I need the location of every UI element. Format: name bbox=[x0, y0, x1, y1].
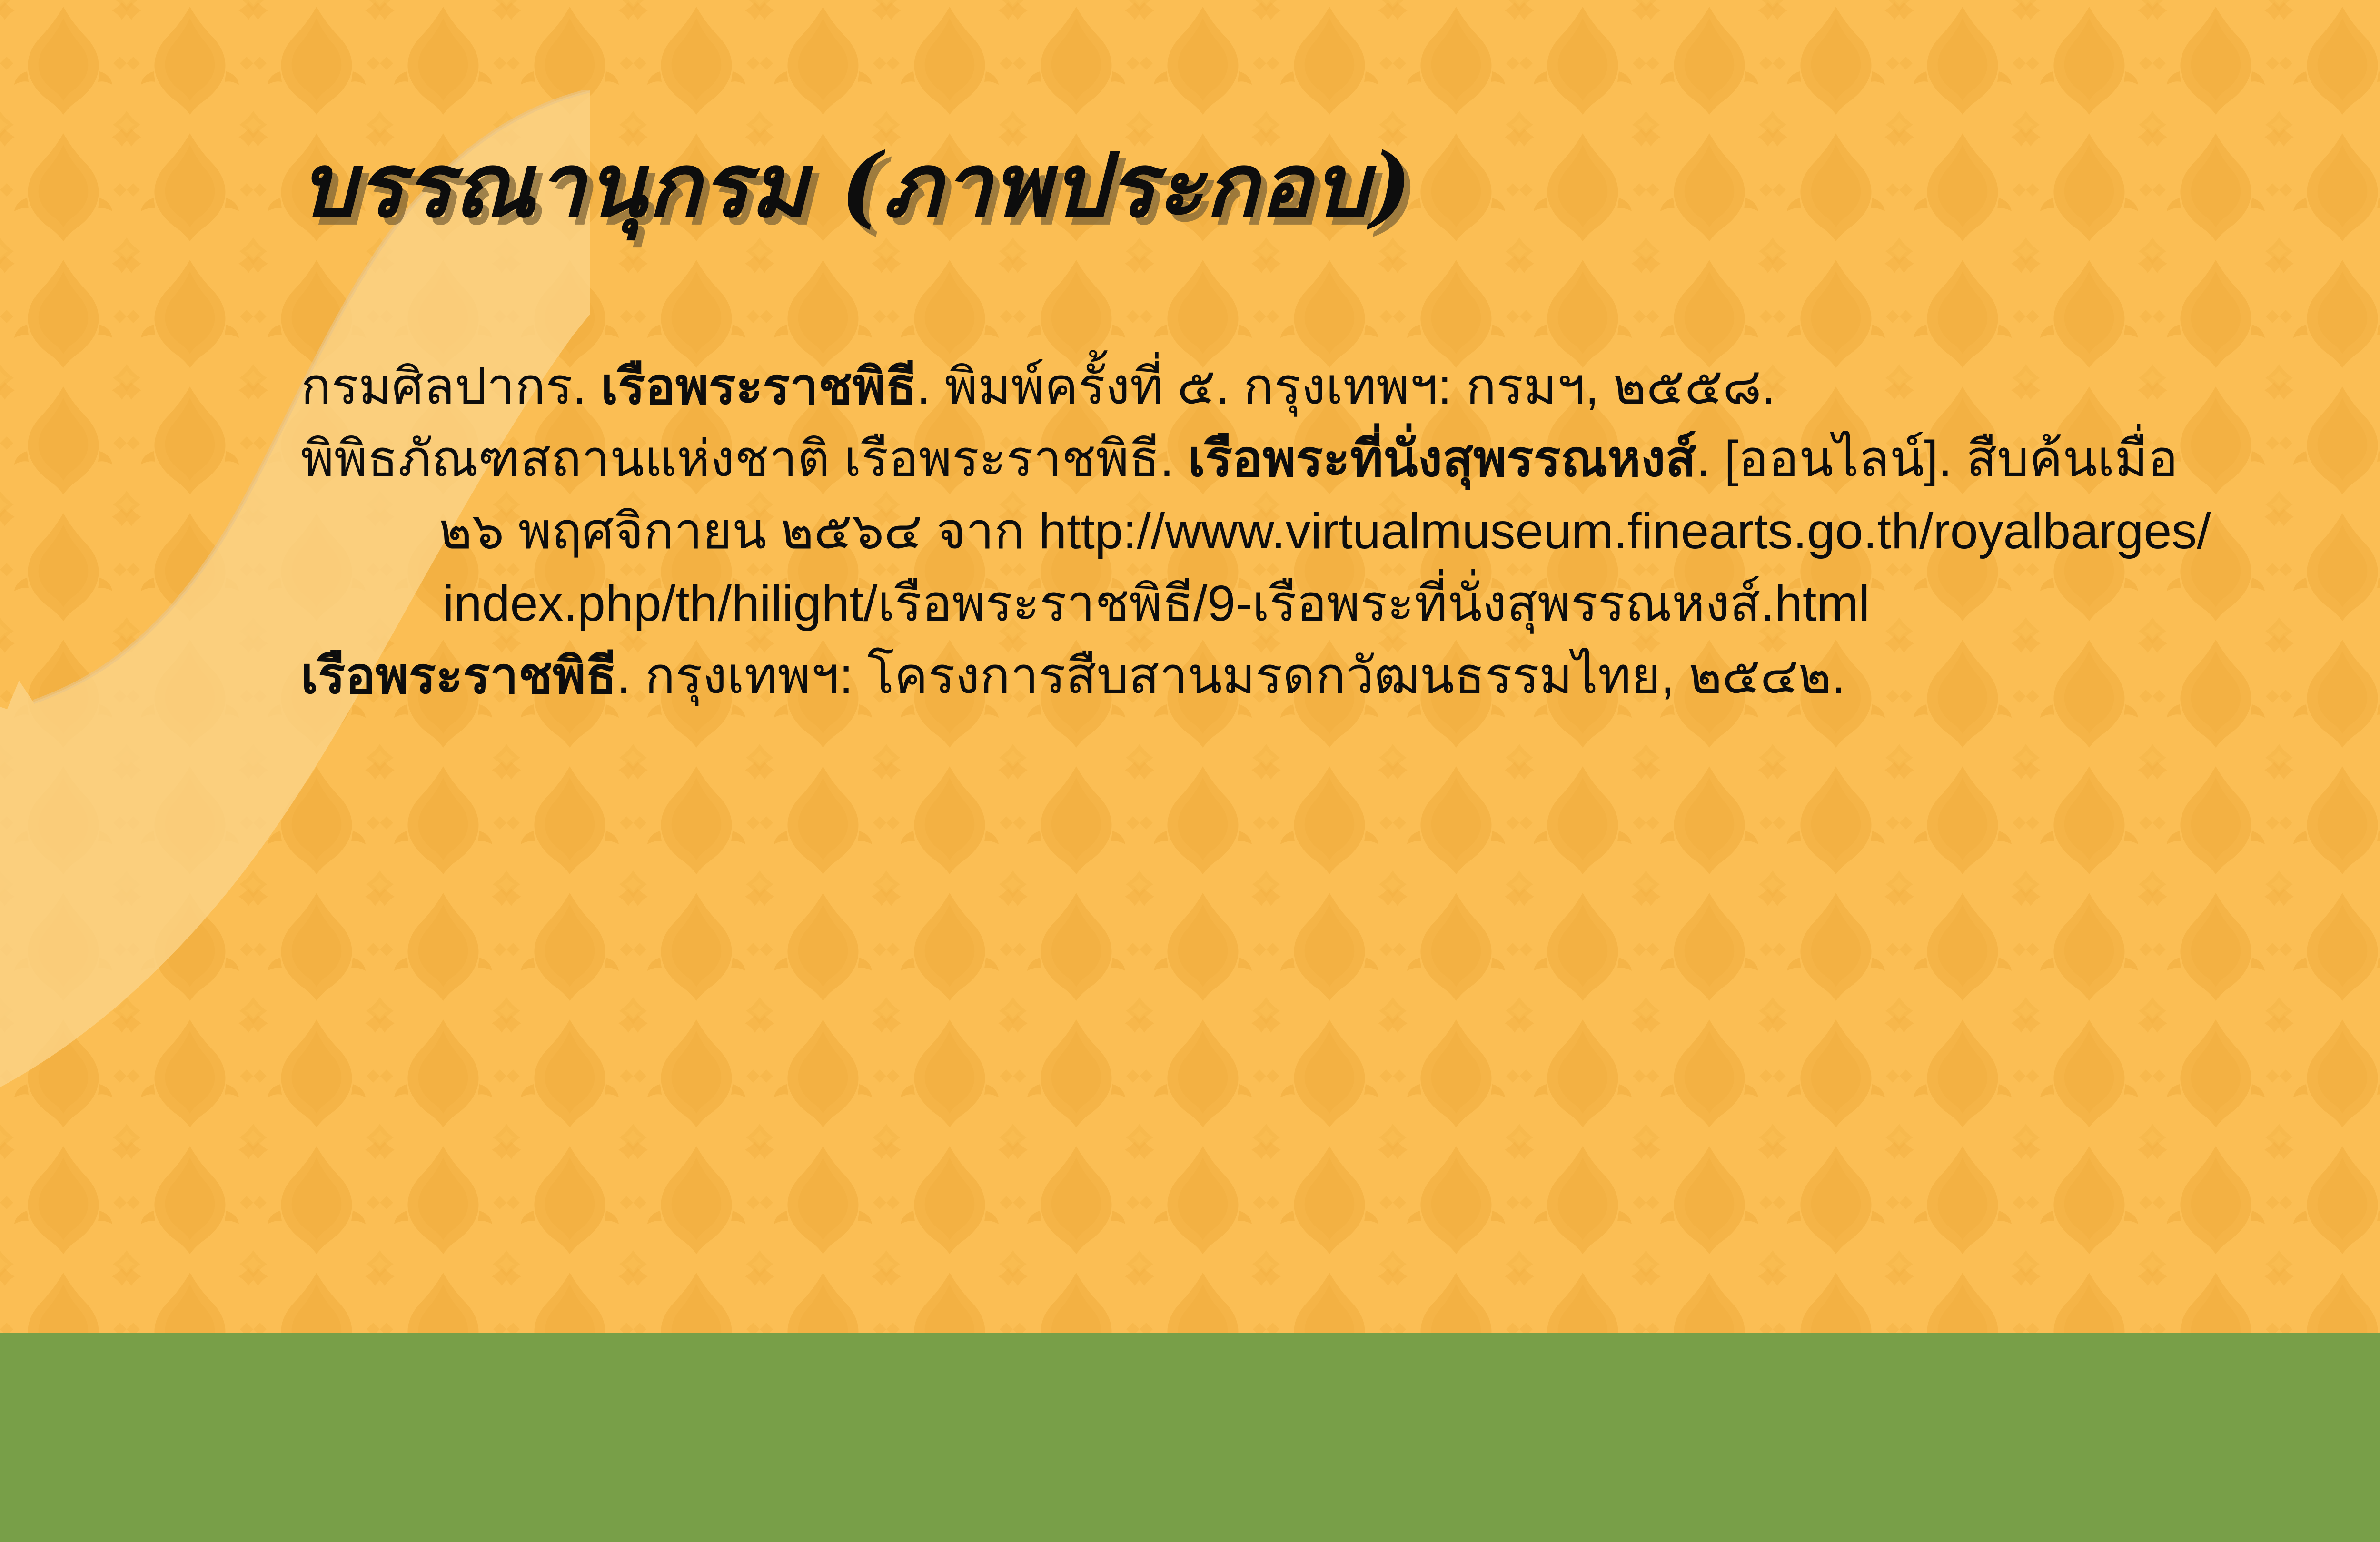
reference-title-text: เรือพระที่นั่งสุพรรณหงส์ bbox=[1188, 431, 1696, 487]
bibliography-entry: index.php/th/hilight/เรือพระราชพิธี/9-เร… bbox=[301, 567, 2380, 640]
bibliography-entry: กรมศิลปากร. เรือพระราชพิธี. พิมพ์ครั้งที… bbox=[301, 350, 2380, 423]
slide-canvas: บรรณานุกรม (ภาพประกอบ) กรมศิลปากร. เรือพ… bbox=[0, 0, 2380, 1542]
bibliography-entry: เรือพระราชพิธี. กรุงเทพฯ: โครงการสืบสานม… bbox=[301, 640, 2380, 712]
bibliography-list: กรมศิลปากร. เรือพระราชพิธี. พิมพ์ครั้งที… bbox=[301, 350, 2380, 712]
bibliography-entry: ๒๖ พฤศจิกายน ๒๕๖๔ จาก http://www.virtual… bbox=[301, 495, 2380, 567]
bibliography-entry: พิพิธภัณฑสถานแห่งชาติ เรือพระราชพิธี. เร… bbox=[301, 423, 2380, 495]
reference-title-text: เรือพระราชพิธี bbox=[601, 358, 917, 415]
reference-title-text: เรือพระราชพิธี bbox=[301, 648, 617, 704]
reference-text: index.php/th/hilight/เรือพระราชพิธี/9-เร… bbox=[443, 575, 1870, 632]
reference-text: กรมศิลปากร. bbox=[301, 358, 601, 415]
reference-text: ๒๖ พฤศจิกายน ๒๕๖๔ จาก http://www.virtual… bbox=[439, 503, 2211, 559]
footer-band bbox=[0, 1333, 2380, 1542]
reference-text: . [ออนไลน์]. สืบค้นเมื่อ bbox=[1696, 431, 2178, 487]
reference-text: พิพิธภัณฑสถานแห่งชาติ เรือพระราชพิธี. bbox=[301, 431, 1188, 487]
reference-text: . พิมพ์ครั้งที่ ๕. กรุงเทพฯ: กรมฯ, ๒๕๕๘. bbox=[917, 358, 1776, 415]
page-title: บรรณานุกรม (ภาพประกอบ) bbox=[300, 137, 1412, 234]
reference-text: . กรุงเทพฯ: โครงการสืบสานมรดกวัฒนธรรมไทย… bbox=[617, 648, 1846, 704]
